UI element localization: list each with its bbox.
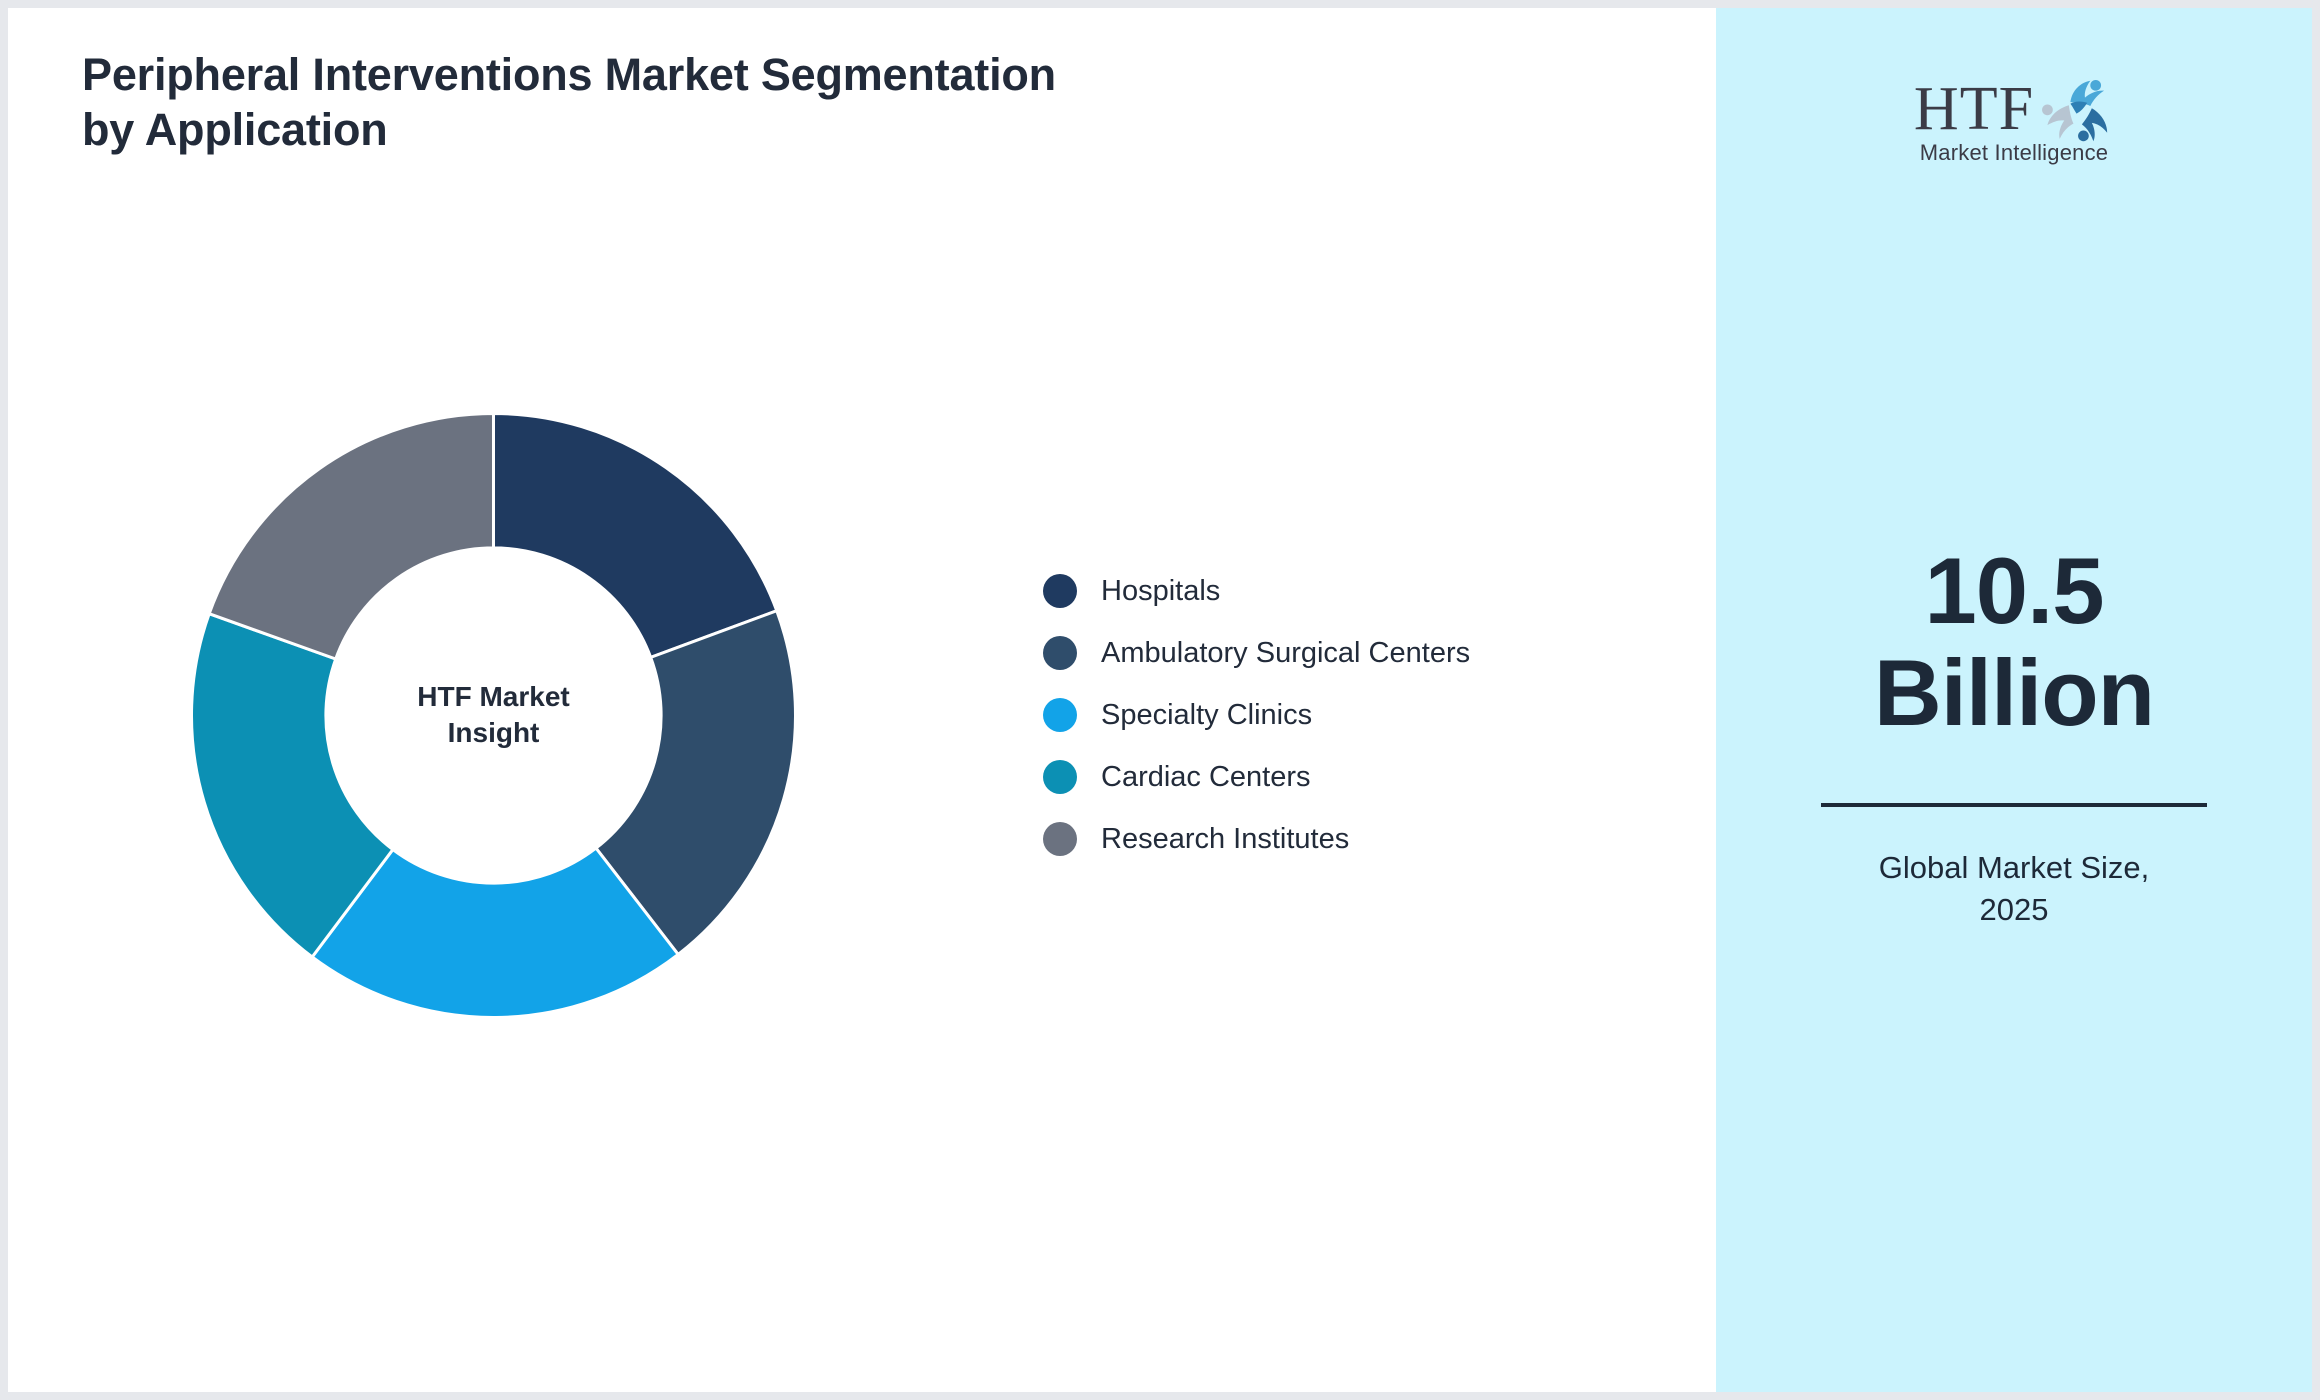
chart-legend: HospitalsAmbulatory Surgical CentersSpec… xyxy=(1043,560,1603,870)
legend-label: Cardiac Centers xyxy=(1101,763,1311,792)
main-panel: Peripheral Interventions Market Segmenta… xyxy=(8,8,1716,1392)
brand-logo: HTF Market Intelligence xyxy=(1884,70,2144,166)
donut-segment[interactable] xyxy=(494,414,777,658)
legend-label: Research Institutes xyxy=(1101,825,1349,854)
donut-segment[interactable] xyxy=(209,414,493,659)
legend-item[interactable]: Cardiac Centers xyxy=(1043,746,1603,808)
logo-wordmark: HTF xyxy=(1914,78,2034,140)
legend-label: Hospitals xyxy=(1101,577,1220,606)
stat-caption-line-1: Global Market Size, xyxy=(1794,847,2234,889)
donut-chart: HTF Market Insight xyxy=(186,408,801,1028)
legend-label: Ambulatory Surgical Centers xyxy=(1101,639,1470,668)
legend-item[interactable]: Ambulatory Surgical Centers xyxy=(1043,622,1603,684)
legend-swatch-icon xyxy=(1043,698,1077,732)
stat-divider xyxy=(1821,803,2207,807)
htf-three-figures-circle-mark xyxy=(2036,70,2114,142)
donut-svg xyxy=(186,408,801,1023)
stat-unit: Billion xyxy=(1794,642,2234,744)
legend-swatch-icon xyxy=(1043,636,1077,670)
headline-stat: 10.5 Billion Global Market Size, 2025 xyxy=(1794,540,2234,931)
logo-row: HTF xyxy=(1884,70,2144,142)
stat-caption: Global Market Size, 2025 xyxy=(1794,847,2234,931)
legend-label: Specialty Clinics xyxy=(1101,701,1312,730)
legend-item[interactable]: Specialty Clinics xyxy=(1043,684,1603,746)
legend-item[interactable]: Research Institutes xyxy=(1043,808,1603,870)
legend-swatch-icon xyxy=(1043,822,1077,856)
legend-item[interactable]: Hospitals xyxy=(1043,560,1603,622)
legend-swatch-icon xyxy=(1043,574,1077,608)
donut-segment-group xyxy=(191,414,795,1018)
donut-chart-graphic: HTF Market Insight xyxy=(186,408,801,1023)
stat-caption-line-2: 2025 xyxy=(1794,889,2234,931)
page-title: Peripheral Interventions Market Segmenta… xyxy=(82,48,1082,158)
logo-tagline: Market Intelligence xyxy=(1884,140,2144,166)
infographic-card: Peripheral Interventions Market Segmenta… xyxy=(8,8,2312,1392)
legend-swatch-icon xyxy=(1043,760,1077,794)
stat-panel: HTF Market Intelligence 10.5 Billion xyxy=(1716,8,2312,1392)
stat-value: 10.5 xyxy=(1794,540,2234,642)
